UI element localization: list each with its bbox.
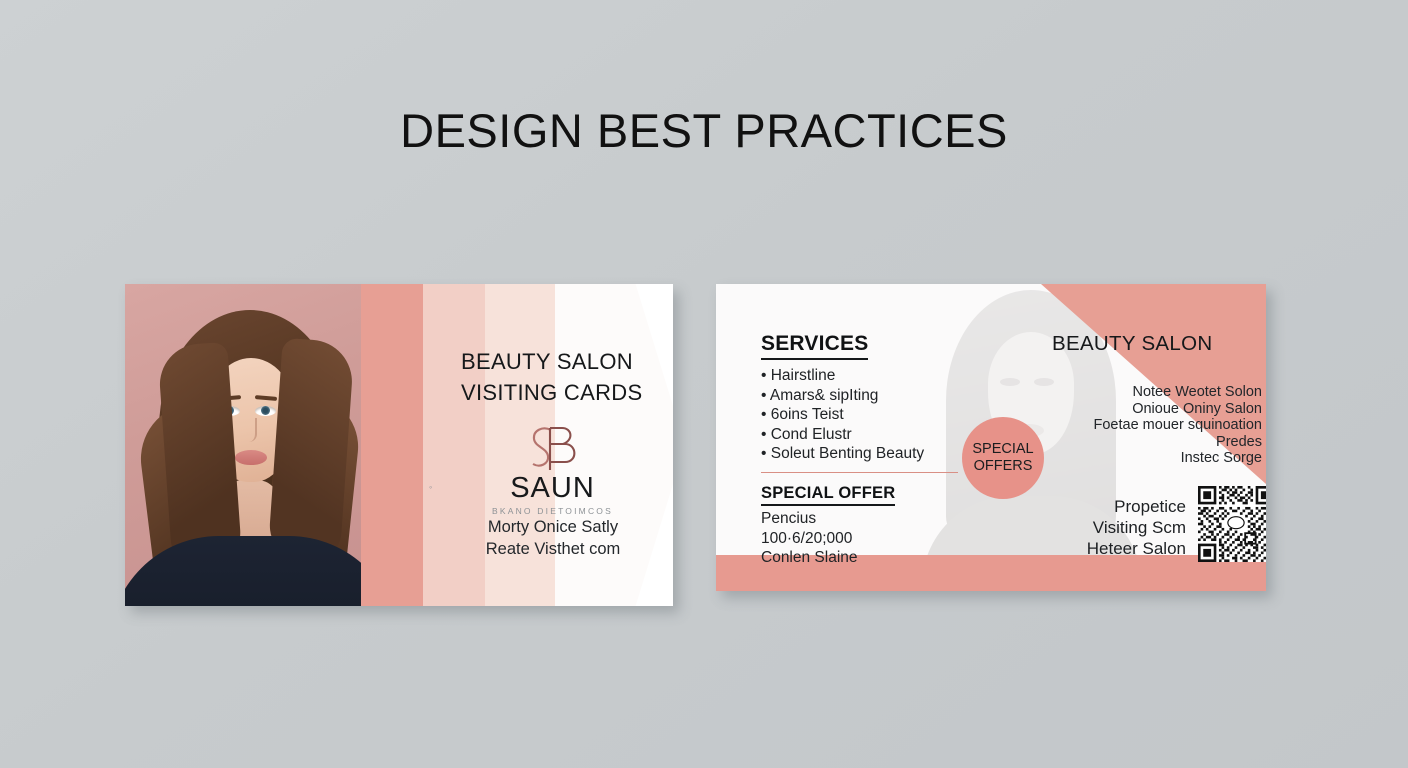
service-item: Amars& sipIting xyxy=(761,386,971,406)
service-item: Hairstline xyxy=(761,366,971,386)
service-item: 6oins Teist xyxy=(761,405,971,425)
card-front-content: BEAUTY SALON VISITING CARDS ◦ SAUN ◦ BKA… xyxy=(425,284,673,606)
special-offer-block: SPECIAL OFFER Pencius 100·6/20;000 Conle… xyxy=(761,484,961,568)
logo-deco-left: ◦ xyxy=(429,482,432,492)
card-front-heading: BEAUTY SALON VISITING CARDS xyxy=(461,346,673,408)
services-block: SERVICES Hairstline Amars& sipIting 6oin… xyxy=(761,332,971,464)
footer-line: Propetice xyxy=(1026,496,1186,517)
portrait-lips xyxy=(235,450,267,465)
special-offer-line-3: Conlen Slaine xyxy=(761,548,961,568)
special-offer-line-1: Pencius xyxy=(761,509,961,529)
visiting-card-back[interactable]: SERVICES Hairstline Amars& sipIting 6oin… xyxy=(716,284,1266,591)
badge-line-1: SPECIAL xyxy=(972,441,1033,458)
visiting-card-front[interactable]: BEAUTY SALON VISITING CARDS ◦ SAUN ◦ BKA… xyxy=(125,284,673,606)
brand-name: SAUN xyxy=(510,472,595,504)
services-list: Hairstline Amars& sipIting 6oins Teist C… xyxy=(761,366,971,464)
special-offer-details: Pencius 100·6/20;000 Conlen Slaine xyxy=(761,509,961,568)
card-front-contact: Morty Onice Satly Reate Visthet com xyxy=(435,516,671,560)
footer-line: Heteer Salon xyxy=(1026,538,1186,559)
contact-line-2: Reate Visthet com xyxy=(435,538,671,560)
badge-line-2: OFFERS xyxy=(974,458,1033,475)
page-title: DESIGN BEST PRACTICES xyxy=(0,103,1408,158)
body-line: Predes xyxy=(1026,434,1262,451)
body-line: Onioue Oniny Salon xyxy=(1026,401,1262,418)
portrait-iris-right xyxy=(261,406,270,415)
brand-logo: ◦ SAUN ◦ BKANO DIETOIMCOS xyxy=(445,422,660,516)
body-line: Foetae mouer squinoation xyxy=(1026,417,1262,434)
card-back-body: Notee Weotet Solon Onioue Oniny Salon Fo… xyxy=(1026,384,1262,467)
services-title: SERVICES xyxy=(761,332,868,360)
watermark-eye-left xyxy=(1000,378,1020,386)
qr-code-icon[interactable] xyxy=(1198,486,1266,562)
brand-tagline: BKANO DIETOIMCOS xyxy=(445,506,660,516)
card-front-heading-line2: VISITING CARDS xyxy=(461,377,673,408)
contact-line-1: Morty Onice Satly xyxy=(435,516,671,538)
footer-line: Visiting Scm xyxy=(1026,517,1186,538)
service-item: Cond Elustr xyxy=(761,425,971,445)
special-offer-line-2: 100·6/20;000 xyxy=(761,529,961,549)
sb-monogram-icon xyxy=(521,422,585,476)
card-front-heading-line1: BEAUTY SALON xyxy=(461,346,673,377)
card-front-photo xyxy=(125,284,373,606)
card-back-footer: Propetice Visiting Scm Heteer Salon xyxy=(1026,496,1186,559)
body-line: Notee Weotet Solon xyxy=(1026,384,1262,401)
special-offer-title: SPECIAL OFFER xyxy=(761,484,895,506)
service-item: Soleut Benting Beauty xyxy=(761,444,971,464)
section-divider xyxy=(761,472,958,473)
brand-name-wrap: ◦ SAUN ◦ xyxy=(445,472,660,505)
body-line: Instec Sorge xyxy=(1026,450,1262,467)
portrait-nose xyxy=(245,418,257,442)
card-back-title: BEAUTY SALON xyxy=(1052,332,1252,356)
